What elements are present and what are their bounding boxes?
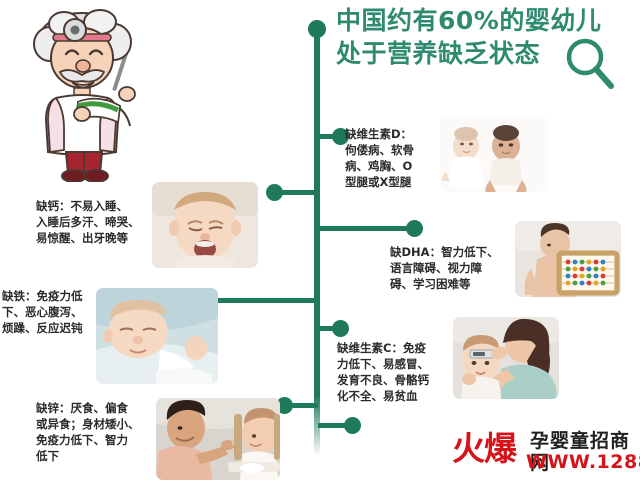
node-dot-lower-right[interactable] (344, 417, 361, 434)
title-line-1: 中国约有60%的婴幼儿 (336, 4, 636, 37)
watermark-brand: 火爆 (452, 432, 516, 465)
crying-baby-photo (152, 182, 258, 268)
infographic-canvas: 中国约有60%的婴幼儿 处于营养缺乏状态 缺维生素D： 佝偻病、软骨 病、鸡胸、… (0, 0, 640, 480)
sleeping-baby-photo (96, 288, 218, 384)
text-vitamin-d: 缺维生素D： 佝偻病、软骨 病、鸡胸、O 型腿或X型腿 (345, 126, 415, 190)
doctor-illustration (8, 2, 158, 182)
node-dot-calcium[interactable] (266, 184, 283, 201)
feeding-baby-photo (156, 398, 280, 480)
watermark-url: WWW.1288.TV (526, 451, 640, 473)
fever-check-photo (453, 317, 559, 399)
text-calcium: 缺钙：不易入睡、 入睡后多汗、啼哭、 易惊醒、出牙晚等 (36, 198, 156, 246)
text-iron: 缺铁：免疫力低 下、恶心腹泻、 烦躁、反应迟钝 (2, 288, 98, 336)
timeline-spine (314, 26, 320, 456)
doctor-illustration-svg (8, 2, 158, 182)
text-dha: 缺DHA：智力低下、 语言障碍、视力障 碍、学习困难等 (390, 244, 510, 292)
text-zinc: 缺锌：厌食、偏食 或异食；身材矮小、 免疫力低下、智力 低下 (36, 400, 154, 464)
baby-abacus-photo (515, 221, 621, 297)
text-vitamin-c: 缺维生素C：免疫 力低下、易感冒、 发育不良、骨骼钙 化不全、易贫血 (337, 340, 439, 404)
node-dot-vitamin-c[interactable] (332, 320, 349, 337)
node-dot-dha[interactable] (406, 220, 423, 237)
branch-dha (318, 226, 414, 231)
watermark: 火爆 孕婴童招商网 WWW.1288.TV (452, 430, 638, 476)
magnifier-icon (563, 36, 617, 90)
two-babies-photo (440, 116, 548, 192)
